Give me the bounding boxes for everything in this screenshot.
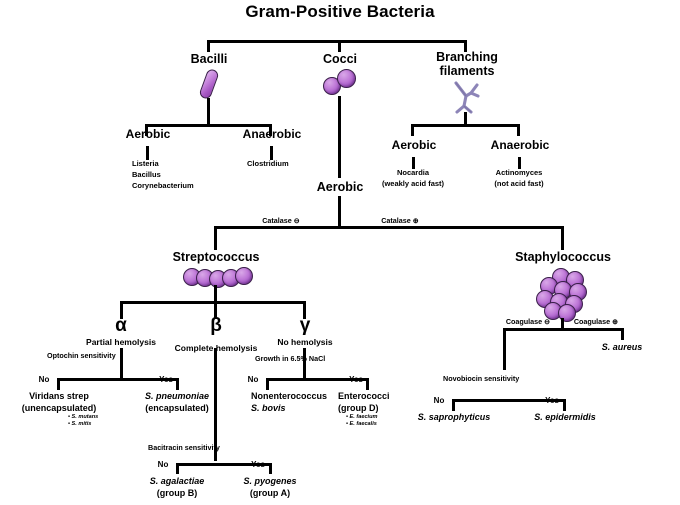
node-bacilli-aerobic[interactable]: Aerobic: [126, 128, 171, 141]
novobiocin-yes-drop: [563, 399, 566, 411]
label-optochin-sensitivity: Optochin sensitivity: [47, 352, 116, 360]
label-optochin-yes: Yes: [159, 376, 173, 385]
result-viridans-strep-note: (unencapsulated): [22, 403, 97, 413]
bullet-s-mutans: • S. mutans: [68, 414, 98, 420]
result-s-agalactiae-note: (group B): [157, 488, 198, 498]
label-nacl-growth: Growth in 6.5% NaCl: [255, 355, 325, 363]
label-bacitracin-yes: Yes: [251, 461, 265, 470]
organism-actinomyces: Actinomyces: [496, 169, 543, 177]
organism-corynebacterium: Corynebacterium: [132, 182, 194, 190]
catalase-negative-drop: [214, 226, 217, 250]
node-staphylococcus[interactable]: Staphylococcus: [515, 250, 611, 264]
label-alpha-hemolysis-symbol: α: [115, 315, 127, 336]
label-bacitracin-sensitivity: Bacitracin sensitivity: [148, 444, 220, 452]
catalase-positive-drop: [561, 226, 564, 250]
branching-split-horizontal: [411, 124, 520, 127]
label-optochin-no: No: [39, 376, 50, 385]
result-s-pyogenes: S. pyogenes: [243, 476, 296, 486]
bacilli-anaerobic-stem: [270, 146, 273, 160]
catalase-split-horizontal: [214, 226, 564, 229]
bacilli-down-line: [207, 98, 210, 126]
bullet-e-faecium-label: E. faecium: [350, 414, 378, 420]
result-s-pneumoniae: S. pneumoniae: [145, 391, 209, 401]
result-s-saprophyticus: S. saprophyticus: [418, 412, 491, 422]
result-s-bovis: S. bovis: [251, 403, 286, 413]
bullet-s-mitis: • S. mitis: [68, 421, 91, 427]
result-enterococci-note: (group D): [338, 403, 379, 413]
bacilli-aerobic-stem: [146, 146, 149, 160]
rod-bacillus-icon: [196, 68, 222, 98]
branching-filament-icon: [447, 79, 487, 115]
result-s-pneumoniae-note: (encapsulated): [145, 403, 209, 413]
node-branching-anaerobic[interactable]: Anaerobic: [491, 139, 550, 152]
coagulase-negative-drop: [503, 328, 506, 370]
label-novobiocin-no: No: [434, 397, 445, 406]
organism-nocardia-note: (weakly acid fast): [382, 180, 444, 188]
node-streptococcus[interactable]: Streptococcus: [173, 250, 260, 264]
gram-positive-bacteria-flowchart: Gram-Positive Bacteria Bacilli Cocci Bra…: [0, 0, 680, 505]
result-s-epidermidis: S. epidermidis: [534, 412, 596, 422]
node-bacilli[interactable]: Bacilli: [191, 52, 228, 66]
top-connector-left-drop: [207, 40, 210, 52]
branching-split-right-drop: [517, 124, 520, 136]
coccus-pair-icon: [323, 68, 357, 96]
novobiocin-no-drop: [452, 399, 455, 411]
node-branching-filaments-line1[interactable]: Branching: [436, 50, 498, 64]
label-catalase-negative: Catalase ⊖: [262, 217, 300, 225]
hemolysis-split-horizontal: [120, 301, 306, 304]
bullet-e-faecium: • E. faecium: [346, 414, 378, 420]
label-gamma-hemolysis-symbol: γ: [300, 315, 311, 336]
label-beta-hemolysis-symbol: β: [210, 315, 222, 336]
bacitracin-no-drop: [176, 463, 179, 474]
label-coagulase-negative: Coagulase ⊖: [506, 318, 550, 326]
node-cocci-aerobic[interactable]: Aerobic: [317, 180, 364, 194]
label-novobiocin-yes: Yes: [545, 397, 559, 406]
result-s-agalactiae: S. agalactiae: [150, 476, 205, 486]
organism-actinomyces-note: (not acid fast): [494, 180, 543, 188]
coccus-cluster-icon: [534, 268, 594, 320]
node-branching-aerobic[interactable]: Aerobic: [392, 139, 437, 152]
alpha-stem: [120, 348, 123, 380]
page-title: Gram-Positive Bacteria: [245, 2, 434, 21]
optochin-no-drop: [57, 378, 60, 390]
label-novobiocin-sensitivity: Novobiocin sensitivity: [443, 375, 519, 383]
label-gamma-hemolysis-desc: No hemolysis: [277, 338, 332, 348]
label-catalase-positive: Catalase ⊕: [381, 217, 419, 225]
cocci-down-line: [338, 96, 341, 178]
result-nonenterococcus: Nonenterococcus: [251, 391, 327, 401]
organism-listeria: Listeria: [132, 160, 159, 168]
node-branching-filaments-line2[interactable]: filaments: [440, 64, 495, 78]
bullet-s-mutans-label: S. mutans: [72, 414, 99, 420]
coccus-chain-icon: [183, 266, 253, 286]
optochin-yes-drop: [176, 378, 179, 390]
nacl-yes-drop: [366, 378, 369, 390]
label-nacl-no: No: [248, 376, 259, 385]
result-s-aureus: S. aureus: [602, 342, 643, 352]
top-connector-horizontal: [207, 40, 467, 43]
organism-clostridium: Clostridium: [247, 160, 289, 168]
label-alpha-hemolysis-desc: Partial hemolysis: [86, 338, 156, 348]
label-bacitracin-no: No: [158, 461, 169, 470]
result-s-pyogenes-note: (group A): [250, 488, 290, 498]
coagulase-positive-drop: [621, 328, 624, 340]
coagulase-split-horizontal: [503, 328, 624, 331]
node-cocci[interactable]: Cocci: [323, 52, 357, 66]
cocci-aerobic-down-line: [338, 196, 341, 228]
bullet-s-mitis-label: S. mitis: [72, 421, 92, 427]
result-enterococci: Enterococci: [338, 391, 390, 401]
result-viridans-strep: Viridans strep: [29, 391, 89, 401]
branching-split-left-drop: [411, 124, 414, 136]
label-coagulase-positive: Coagulase ⊕: [574, 318, 618, 326]
top-connector-mid-drop: [338, 40, 341, 52]
node-bacilli-anaerobic[interactable]: Anaerobic: [243, 128, 302, 141]
bacitracin-yes-drop: [269, 463, 272, 474]
organism-bacillus: Bacillus: [132, 171, 161, 179]
gamma-stem: [303, 348, 306, 380]
bullet-e-faecalis-label: E. faecalis: [350, 421, 377, 427]
bullet-e-faecalis: • E. faecalis: [346, 421, 377, 427]
label-nacl-yes: Yes: [349, 376, 363, 385]
nacl-no-drop: [266, 378, 269, 390]
organism-nocardia: Nocardia: [397, 169, 429, 177]
